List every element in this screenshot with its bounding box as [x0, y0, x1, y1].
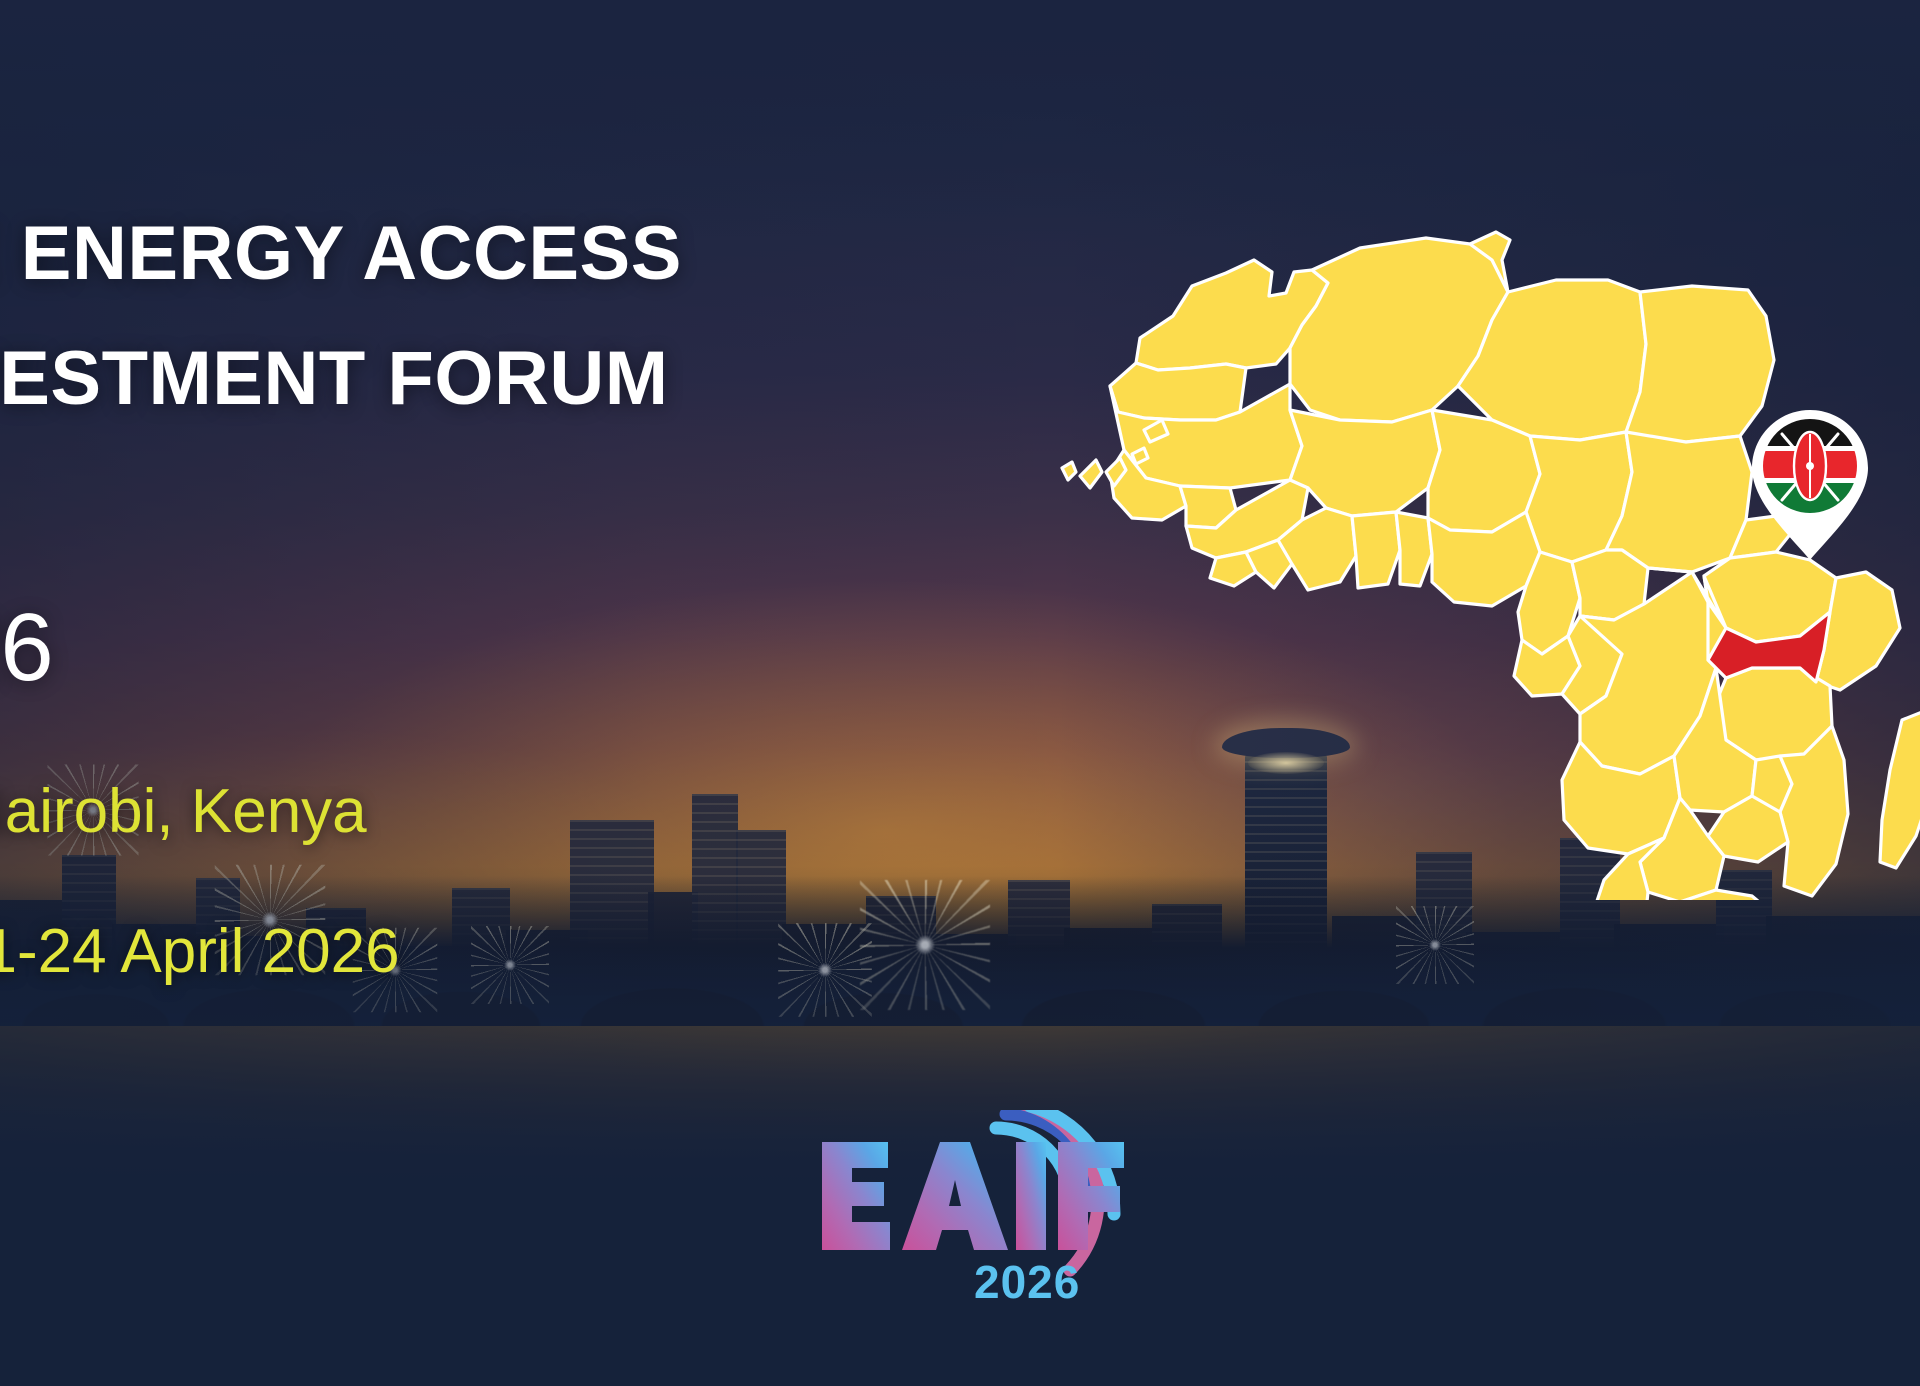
logo-year: 2026 — [974, 1256, 1080, 1308]
headline-line-2: VESTMENT FORUM — [0, 317, 1008, 440]
africa-map — [1040, 120, 1920, 900]
logo-wordmark — [822, 1142, 1124, 1250]
event-location: Nairobi, Kenya — [0, 778, 367, 846]
eaif-logo[interactable]: 2026 — [818, 1110, 1138, 1310]
event-year: 26 — [0, 595, 53, 701]
event-dates: 21-24 April 2026 — [0, 918, 400, 986]
headline-line-1: E ENERGY ACCESS — [0, 192, 1008, 315]
event-banner: E ENERGY ACCESS VESTMENT FORUM 26 Nairob… — [0, 0, 1920, 1386]
page-title: E ENERGY ACCESS VESTMENT FORUM — [0, 192, 1008, 440]
